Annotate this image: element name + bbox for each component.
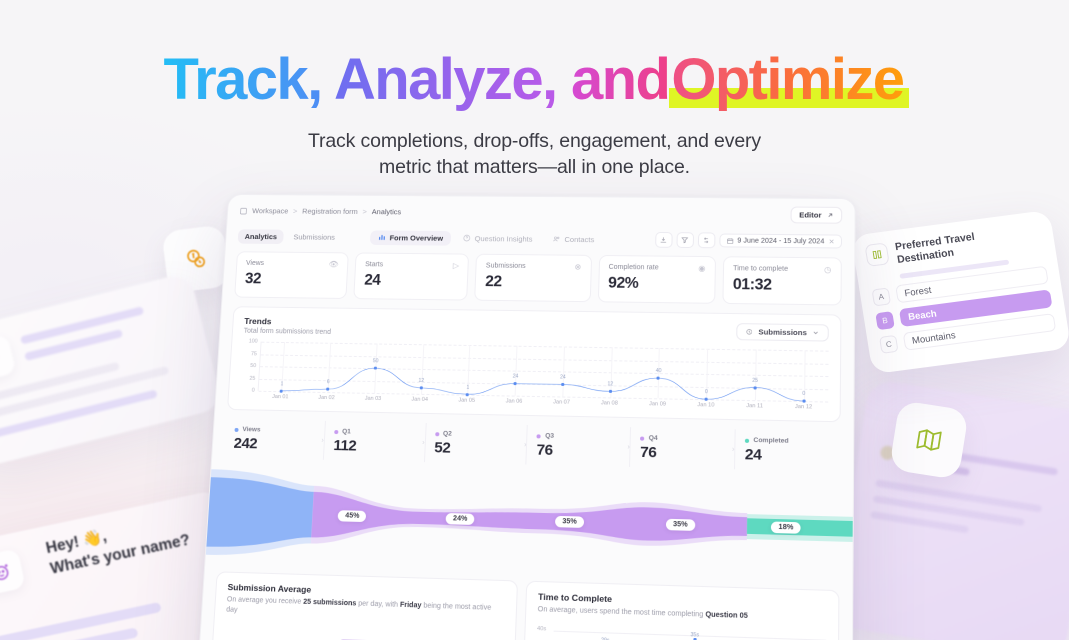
trends-data-label: 24 — [513, 374, 519, 380]
metric-cards-row: Views 👁 32 Starts ▷ 24 Submissions ⊗ 22 … — [223, 251, 855, 305]
sa-text-b: per day, with — [356, 600, 400, 609]
editor-button-label: Editor — [799, 211, 821, 220]
eye-icon: 👁 — [328, 260, 338, 269]
trends-data-point[interactable] — [657, 377, 660, 380]
breadcrumb-sep-1: > — [293, 207, 298, 216]
funnel-metric-views[interactable]: Views 242 › — [224, 419, 325, 460]
breadcrumb-form[interactable]: Registration form — [302, 207, 358, 216]
ttc-text-a: On average, users spend the most time co… — [538, 606, 706, 619]
trends-x-tick: Jan 07 — [553, 399, 570, 405]
trends-data-label: 50 — [373, 358, 379, 364]
headline-word-track: Track, — [164, 47, 322, 112]
calendar-icon — [726, 237, 733, 244]
trends-data-label: 24 — [560, 374, 566, 380]
sa-bold-a: 25 submissions — [303, 599, 356, 608]
trends-title: Trends — [244, 316, 332, 327]
trends-data-point[interactable] — [753, 386, 756, 389]
compare-button[interactable] — [697, 232, 715, 248]
ttc-bold-a: Question 05 — [705, 611, 748, 620]
date-range-picker[interactable]: 9 June 2024 - 15 July 2024 — [719, 234, 842, 249]
filter-button[interactable] — [676, 232, 694, 248]
time-to-complete-chart: 40s 30s 29s 35s — [536, 624, 827, 640]
trends-x-tick: Jan 10 — [697, 402, 714, 408]
map-icon — [913, 424, 945, 456]
funnel-metric-value: 52 — [434, 439, 527, 458]
funnel-shape — [205, 459, 853, 584]
play-icon: ▷ — [453, 261, 459, 270]
funnel-metric-label: Views — [242, 426, 260, 433]
trends-y-tick: 25 — [249, 375, 255, 381]
heart-icon — [0, 347, 3, 369]
trends-x-tick: Jan 05 — [458, 398, 475, 404]
trends-y-tick: 50 — [250, 363, 256, 369]
workspace-icon — [239, 207, 247, 215]
coins-icon — [182, 245, 211, 274]
sa-text-a: On average you receive — [227, 596, 304, 606]
trends-x-tick: Jan 01 — [272, 394, 289, 400]
funnel-percent-1: 45% — [338, 510, 367, 522]
check-circle-icon: ⊗ — [574, 263, 581, 272]
trends-data-point[interactable] — [561, 383, 564, 386]
external-link-icon — [827, 212, 834, 219]
trends-x-tick: Jan 08 — [601, 400, 618, 406]
tab-analytics[interactable]: Analytics — [238, 229, 285, 244]
breadcrumb-workspace[interactable]: Workspace — [252, 206, 289, 215]
trends-panel: Trends Total form submissions trend Subm… — [227, 306, 841, 422]
compare-icon — [702, 236, 710, 244]
headline-word-analyze: Analyze, — [334, 47, 557, 112]
funnel-metric-completed[interactable]: Completed 24 — [734, 429, 840, 471]
trends-line-chart: 0255075100 1650121242412400250 Jan 01Jan… — [239, 341, 828, 413]
tab-submissions[interactable]: Submissions — [286, 229, 342, 244]
download-button[interactable] — [655, 232, 673, 248]
metric-card-completion-rate: Completion rate ◉ 92% — [597, 255, 715, 304]
trends-data-label: 25 — [752, 377, 758, 383]
download-icon — [659, 236, 667, 244]
headline-word-and: and — [571, 47, 669, 112]
dashboard-window: Workspace > Registration form > Analytic… — [195, 194, 856, 640]
trends-x-tick: Jan 09 — [649, 401, 666, 407]
tab-contacts[interactable]: Contacts — [544, 231, 602, 246]
trends-metric-selector[interactable]: Submissions — [736, 323, 828, 341]
trends-y-tick: 0 — [251, 388, 254, 394]
breadcrumb: Workspace > Registration form > Analytic… — [239, 206, 401, 216]
trends-data-label: 1 — [280, 381, 283, 387]
tab-question-insights-label: Question Insights — [475, 234, 533, 243]
funnel-metric-q2[interactable]: Q2 52 › — [424, 423, 528, 465]
funnel-metric-q4[interactable]: Q4 76 › — [629, 427, 734, 469]
chevron-down-icon — [812, 329, 819, 336]
funnel-percent-5: 18% — [771, 521, 801, 533]
metric-card-starts: Starts ▷ 24 — [353, 252, 469, 300]
travel-option-b-key: B — [875, 311, 895, 330]
contacts-icon — [552, 235, 560, 243]
time-to-complete-card: Time to Complete On average, users spend… — [522, 581, 839, 640]
funnel-metric-label: Q4 — [649, 435, 658, 442]
trends-subtitle: Total form submissions trend — [243, 328, 331, 336]
smiley-sparkle-icon — [0, 560, 14, 584]
funnel-metric-q3[interactable]: Q3 76 › — [526, 425, 631, 467]
travel-option-a-key: A — [871, 287, 891, 306]
metric-label: Submissions — [486, 263, 526, 270]
gauge-icon: ◉ — [698, 264, 705, 273]
breadcrumb-sep-2: > — [362, 207, 367, 216]
trends-y-tick: 100 — [249, 339, 258, 345]
breadcrumb-current: Analytics — [372, 207, 402, 216]
funnel-metric-value: 76 — [640, 444, 735, 463]
hero-subtitle-line1: Track completions, drop-offs, engagement… — [0, 129, 1069, 155]
trends-data-label: 0 — [705, 389, 708, 395]
map-icon-card — [889, 400, 969, 480]
funnel-metric-label: Q3 — [545, 432, 554, 439]
filter-icon — [681, 236, 689, 244]
page-title: Track, Analyze, andOptimize — [0, 50, 1069, 111]
metric-label: Views — [246, 260, 264, 267]
funnel-visualization: 45% 24% 35% 35% 18% — [205, 459, 853, 584]
metric-label: Completion rate — [608, 264, 658, 271]
hero-section: Track, Analyze, andOptimize Track comple… — [0, 0, 1069, 180]
trends-data-label: 12 — [607, 381, 613, 387]
metric-value: 24 — [364, 272, 459, 291]
submission-average-bars — [222, 625, 503, 640]
headline-highlight: Optimize — [669, 47, 905, 112]
trends-x-tick: Jan 03 — [365, 396, 382, 402]
funnel-metric-value: 76 — [536, 441, 630, 460]
funnel-metric-value: 24 — [745, 446, 841, 466]
book-icon-tile — [864, 242, 889, 267]
trends-x-tick: Jan 11 — [746, 403, 763, 409]
tab-contacts-label: Contacts — [564, 235, 594, 244]
sa-bold-b: Friday — [400, 602, 422, 610]
metric-card-views: Views 👁 32 — [234, 251, 349, 299]
smiley-sparkle-icon-tile — [0, 548, 26, 595]
toolbar-actions: 9 June 2024 - 15 July 2024 — [655, 232, 842, 250]
funnel-metric-label: Q1 — [342, 428, 351, 435]
trends-data-point[interactable] — [419, 386, 422, 389]
metric-card-submissions: Submissions ⊗ 22 — [475, 254, 592, 302]
bar-chart-icon — [378, 233, 386, 241]
metric-label: Time to complete — [733, 265, 788, 273]
trends-data-point[interactable] — [609, 390, 612, 393]
trends-y-tick: 75 — [251, 351, 257, 357]
trends-x-tick: Jan 02 — [318, 395, 335, 401]
tab-form-overview[interactable]: Form Overview — [370, 230, 452, 245]
trends-data-point[interactable] — [514, 382, 517, 385]
ttc-y-tick-40s: 40s — [537, 626, 546, 633]
metric-card-time-to-complete: Time to complete ◷ 01:32 — [722, 256, 842, 305]
submission-average-card: Submission Average On average you receiv… — [210, 571, 518, 640]
decor-card-left-top — [0, 272, 223, 468]
heart-icon-tile — [0, 334, 17, 382]
funnel-metric-value: 242 — [233, 435, 324, 454]
metric-value: 01:32 — [733, 276, 832, 295]
trends-data-label: 0 — [802, 391, 805, 397]
bottom-cards-row: Submission Average On average you receiv… — [210, 571, 840, 640]
preferred-travel-destination-card: Preferred Travel Destination A Forest B … — [851, 210, 1069, 374]
funnel-metric-value: 112 — [333, 437, 425, 456]
page-root: Track, Analyze, andOptimize Track comple… — [0, 0, 1069, 640]
tab-question-insights[interactable]: Question Insights — [455, 231, 541, 246]
hero-subtitle: Track completions, drop-offs, engagement… — [0, 129, 1069, 180]
trends-data-label: 40 — [656, 368, 662, 374]
metric-icon — [746, 328, 753, 335]
book-icon — [870, 248, 884, 261]
travel-card-header: Preferred Travel Destination — [864, 222, 1043, 271]
date-range-label: 9 June 2024 - 15 July 2024 — [737, 237, 824, 245]
trends-selector-label: Submissions — [758, 327, 807, 337]
travel-option-c-key: C — [879, 335, 899, 354]
metric-value: 22 — [485, 273, 581, 292]
funnel-metric-label: Completed — [753, 437, 788, 445]
editor-button[interactable]: Editor — [791, 207, 842, 224]
trends-data-label: 6 — [327, 379, 330, 385]
hero-subtitle-line2: metric that matters—all in one place. — [0, 155, 1069, 181]
tab-form-overview-label: Form Overview — [389, 233, 443, 242]
analytics-dashboard-mockup: Workspace > Registration form > Analytic… — [221, 196, 851, 640]
trends-x-tick: Jan 04 — [411, 397, 428, 403]
funnel-metric-label: Q2 — [443, 430, 452, 437]
metric-label: Starts — [365, 261, 383, 268]
metric-value: 32 — [244, 271, 338, 290]
funnel-percent-2: 24% — [446, 512, 475, 524]
trends-x-tick: Jan 06 — [506, 398, 523, 404]
view-tabs: Form Overview Question Insights Contacts — [370, 230, 603, 247]
funnel-metric-q1[interactable]: Q1 112 › — [323, 421, 426, 462]
clock-icon: ◷ — [824, 265, 831, 274]
funnel-percent-3: 35% — [555, 515, 584, 527]
metric-value: 92% — [608, 275, 705, 294]
trends-data-label: 1 — [466, 384, 469, 390]
question-icon — [463, 234, 471, 242]
close-icon — [828, 238, 834, 244]
trends-data-point[interactable] — [326, 388, 329, 391]
trends-data-point[interactable] — [374, 367, 377, 370]
section-tabs: Analytics Submissions — [238, 229, 343, 244]
travel-card-title: Preferred Travel Destination — [894, 231, 977, 267]
greeting-text: Hey! 👋, What's your name? — [44, 509, 192, 580]
funnel-percent-4: 35% — [666, 518, 696, 530]
trends-data-label: 12 — [418, 378, 424, 384]
submission-average-description: On average you receive 25 submissions pe… — [226, 595, 505, 625]
headline-word-optimize: Optimize — [671, 47, 903, 112]
trends-x-tick: Jan 12 — [795, 404, 812, 410]
